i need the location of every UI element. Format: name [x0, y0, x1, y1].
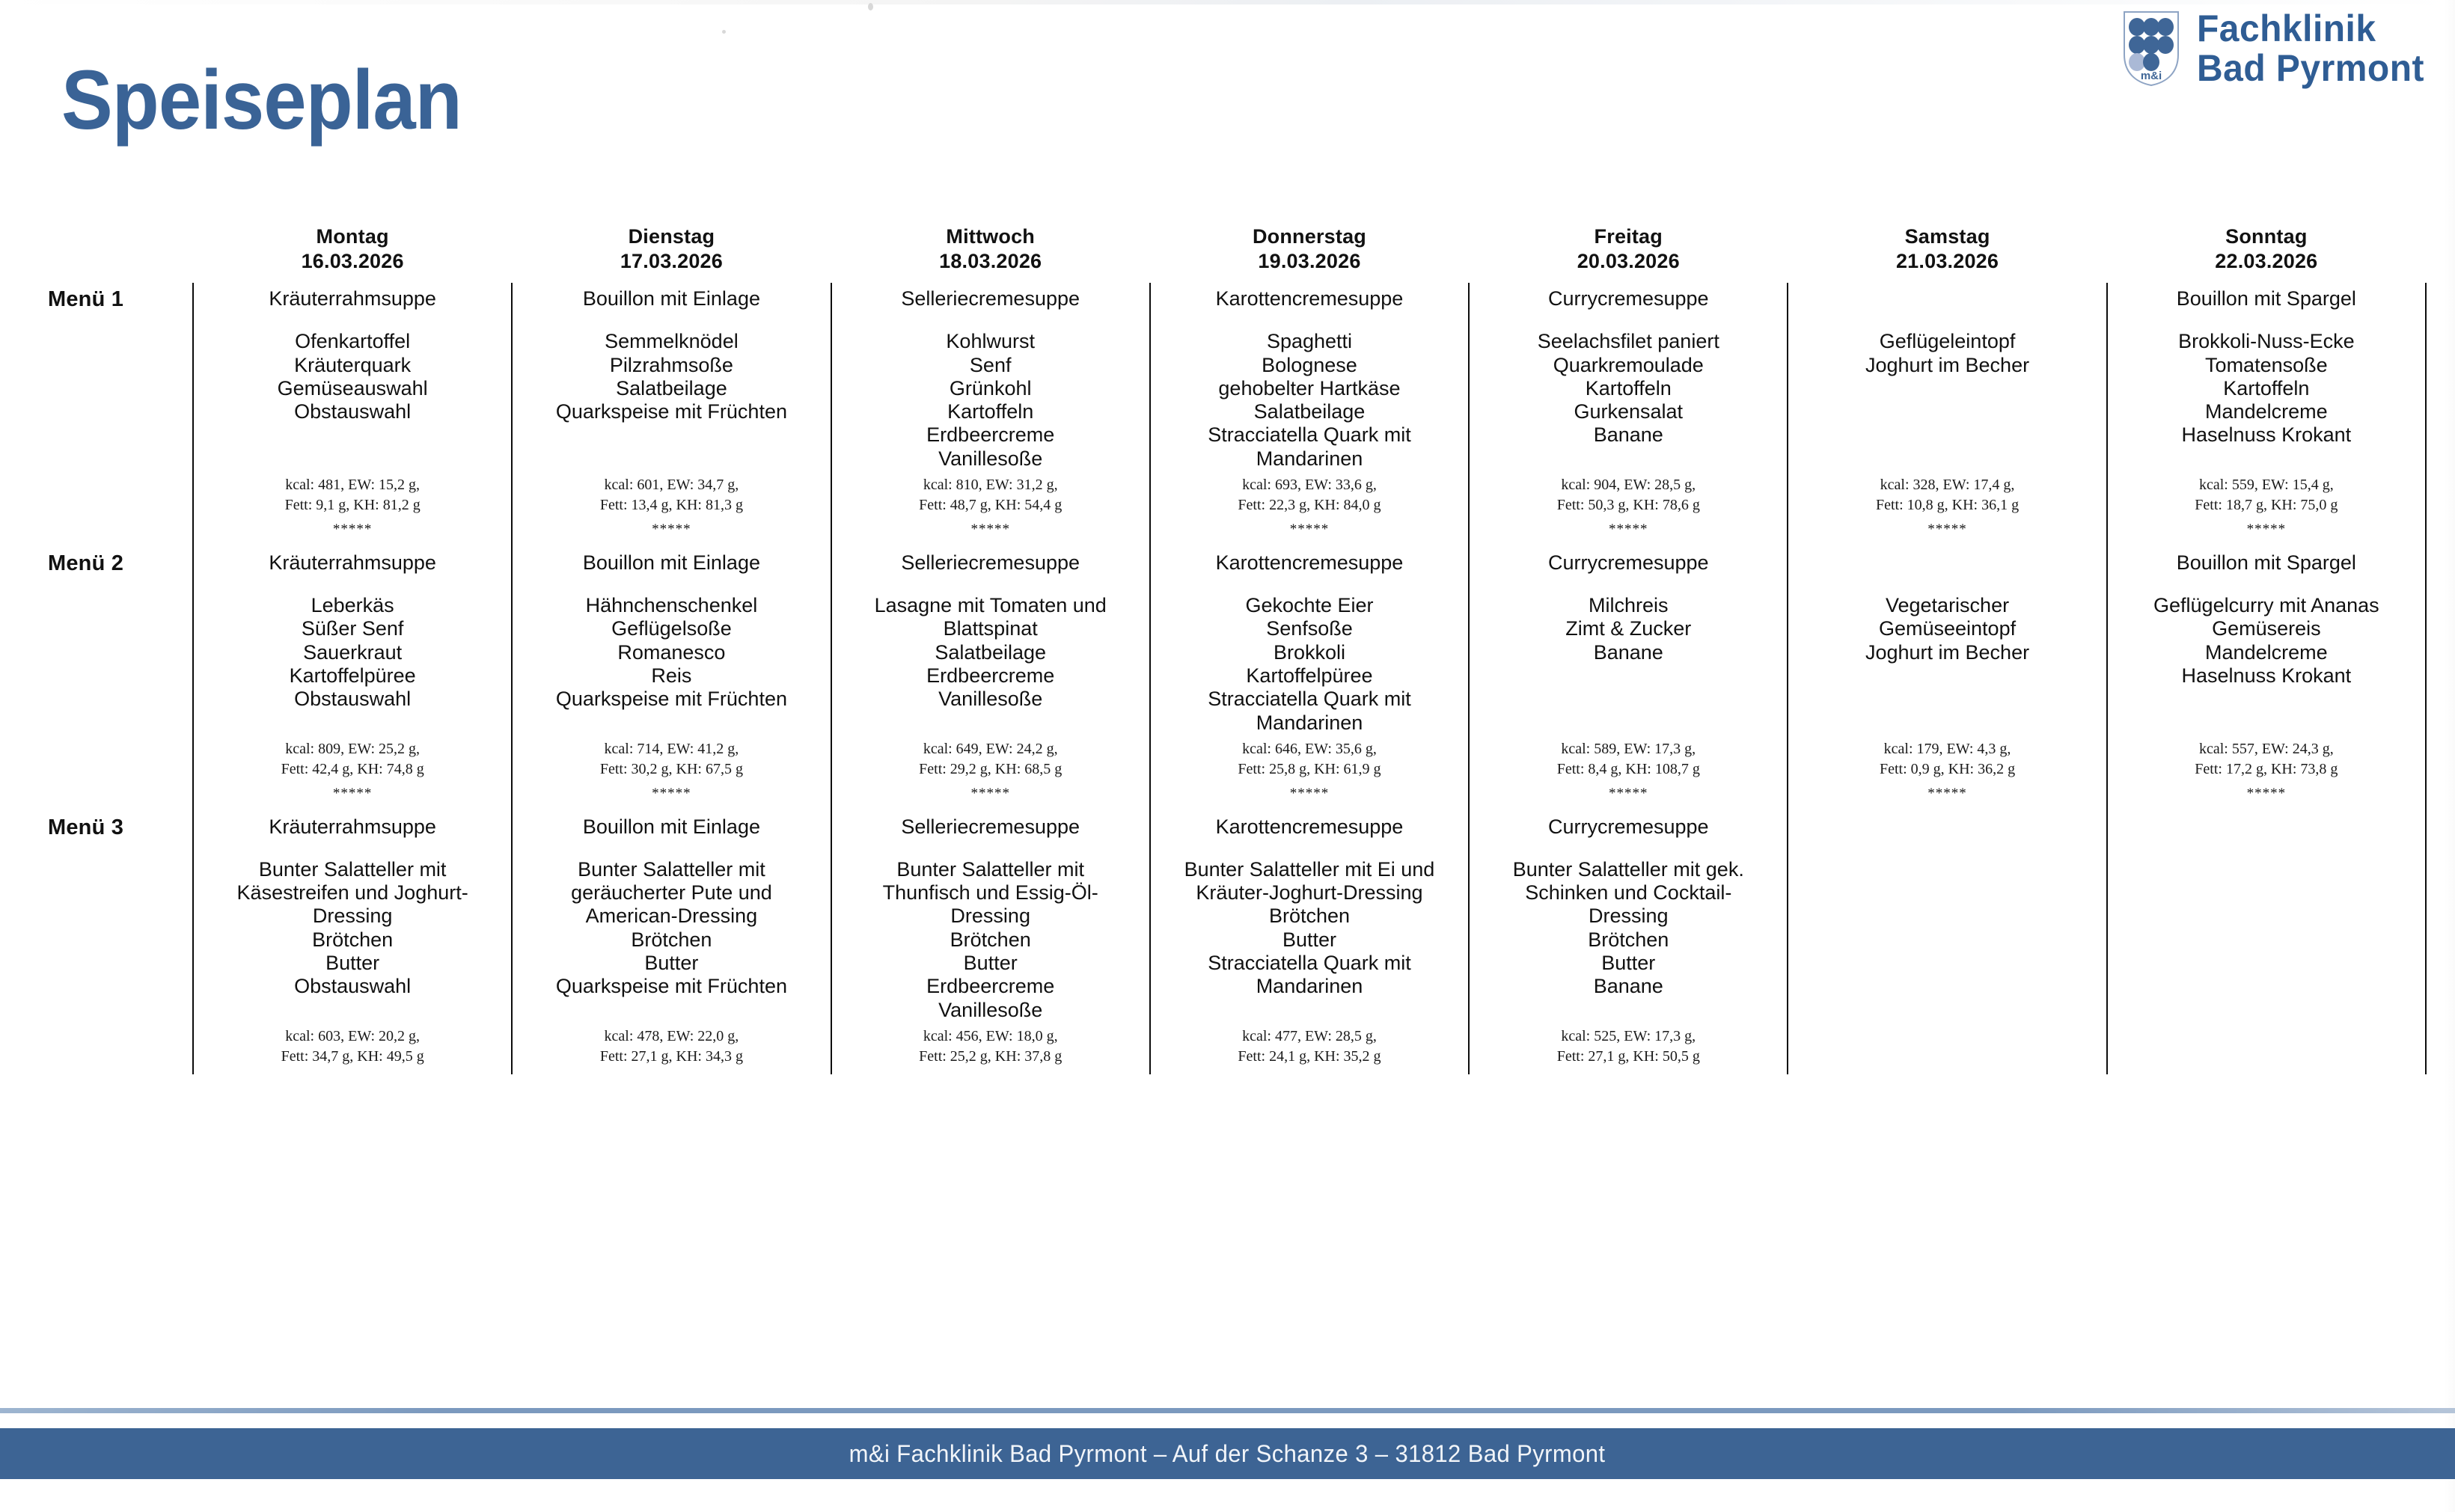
separator-stars: ***** — [2112, 784, 2421, 804]
nutrition-line-1: kcal: 478, EW: 22,0 g, — [517, 1026, 825, 1047]
separator-stars: ***** — [1474, 520, 1782, 539]
nutrition-line-1: kcal: 557, EW: 24,3 g, — [2112, 739, 2421, 759]
nutrition-row-spacer — [43, 471, 193, 547]
brand-logo: m&i Fachklinik Bad Pyrmont — [2122, 9, 2434, 88]
dish-item: American-Dressing — [520, 905, 822, 928]
separator-stars: ***** — [1793, 520, 2101, 539]
dish-list: Geflügelcurry mit AnanasGemüsereisMandel… — [2115, 594, 2418, 688]
dish-item: Süßer Senf — [201, 617, 504, 640]
nutrition-line-2: Fett: 27,1 g, KH: 34,3 g — [517, 1047, 825, 1067]
nutrition-line-1: kcal: 693, EW: 33,6 g, — [1155, 475, 1464, 495]
footer-address: m&i Fachklinik Bad Pyrmont – Auf der Sch… — [849, 1440, 1606, 1468]
nutrition-cell: kcal: 810, EW: 31,2 g,Fett: 48,7 g, KH: … — [831, 471, 1150, 547]
nutrition-cell: kcal: 481, EW: 15,2 g,Fett: 9,1 g, KH: 8… — [193, 471, 512, 547]
dish-item: Vanillesoße — [840, 999, 1142, 1022]
day-date: 16.03.2026 — [196, 249, 509, 274]
dish-item: Erdbeercreme — [840, 975, 1142, 998]
day-name: Samstag — [1791, 224, 2103, 249]
nutrition-line-1: kcal: 601, EW: 34,7 g, — [517, 475, 825, 495]
dish-item: Senfsoße — [1158, 617, 1461, 640]
dish-item: Quarkspeise mit Früchten — [520, 975, 822, 998]
dish-item: Brokkoli-Nuss-Ecke — [2115, 330, 2418, 353]
dish-item: Butter — [840, 952, 1142, 975]
dish-item: Grünkohl — [840, 377, 1142, 400]
day-header-dienstag: Dienstag17.03.2026 — [512, 224, 831, 283]
nutrition-cell: kcal: 456, EW: 18,0 g,Fett: 25,2 g, KH: … — [831, 1022, 1150, 1074]
nutrition-line-1: kcal: 589, EW: 17,3 g, — [1474, 739, 1782, 759]
dish-item: Mandelcreme — [2115, 641, 2418, 664]
soup-item: Selleriecremesuppe — [840, 287, 1142, 310]
menu-label-2: Menü 2 — [43, 547, 193, 735]
nutrition-line-1: kcal: 559, EW: 15,4 g, — [2112, 475, 2421, 495]
day-header-freitag: Freitag20.03.2026 — [1469, 224, 1788, 283]
dish-item: Brötchen — [1477, 928, 1779, 952]
dish-item: Quarkspeise mit Früchten — [520, 400, 822, 423]
nutrition-cell: kcal: 646, EW: 35,6 g,Fett: 25,8 g, KH: … — [1150, 735, 1469, 811]
dish-item: Obstauswahl — [201, 688, 504, 711]
nutrition-cell — [1788, 1022, 2106, 1074]
nutrition-cell: kcal: 557, EW: 24,3 g,Fett: 17,2 g, KH: … — [2107, 735, 2426, 811]
soup-item: Bouillon mit Spargel — [2115, 551, 2418, 575]
dish-item: Vanillesoße — [840, 688, 1142, 711]
menu-row: Menü 2KräuterrahmsuppeLeberkäsSüßer Senf… — [43, 547, 2426, 735]
dish-item: Brötchen — [201, 928, 504, 952]
dish-item: Kräuterquark — [201, 354, 504, 377]
dish-item: Dressing — [201, 905, 504, 928]
dish-item: Butter — [1477, 952, 1779, 975]
nutrition-cell: kcal: 478, EW: 22,0 g,Fett: 27,1 g, KH: … — [512, 1022, 831, 1074]
nutrition-line-2: Fett: 17,2 g, KH: 73,8 g — [2112, 759, 2421, 780]
day-name: Sonntag — [2110, 224, 2423, 249]
soup-item: Bouillon mit Einlage — [520, 551, 822, 575]
shield-icon: m&i — [2122, 10, 2180, 88]
soup-item: Kräuterrahmsuppe — [201, 287, 504, 310]
menu-cell: Bouillon mit EinlageSemmelknödelPilzrahm… — [512, 283, 831, 471]
menu-cell: Bouillon mit EinlageHähnchenschenkelGefl… — [512, 547, 831, 735]
dish-list: Seelachsfilet paniertQuarkremouladeKarto… — [1477, 330, 1779, 447]
day-name: Mittwoch — [834, 224, 1147, 249]
menu-cell: Bouillon mit SpargelGeflügelcurry mit An… — [2107, 547, 2426, 735]
dish-item: Gemüseauswahl — [201, 377, 504, 400]
soup-item: Kräuterrahmsuppe — [201, 551, 504, 575]
day-date: 22.03.2026 — [2110, 249, 2423, 274]
dish-item: gehobelter Hartkäse — [1158, 377, 1461, 400]
menu-label-1: Menü 1 — [43, 283, 193, 471]
footer-rule — [0, 1408, 2455, 1413]
dish-item: Butter — [1158, 928, 1461, 952]
dish-item: Mandelcreme — [2115, 400, 2418, 423]
dish-item: Joghurt im Becher — [1796, 641, 2098, 664]
separator-stars: ***** — [1474, 784, 1782, 804]
footer-bar: m&i Fachklinik Bad Pyrmont – Auf der Sch… — [0, 1428, 2455, 1479]
dish-list: HähnchenschenkelGeflügelsoßeRomanescoRei… — [520, 594, 822, 711]
dish-item: Salatbeilage — [840, 641, 1142, 664]
dish-item: Erdbeercreme — [840, 664, 1142, 688]
nutrition-cell: kcal: 693, EW: 33,6 g,Fett: 22,3 g, KH: … — [1150, 471, 1469, 547]
soup-item: Karottencremesuppe — [1158, 287, 1461, 310]
dish-item: Bunter Salatteller mit — [520, 858, 822, 881]
menu-cell: GeflügeleintopfJoghurt im Becher — [1788, 283, 2106, 471]
dish-list: GeflügeleintopfJoghurt im Becher — [1796, 330, 2098, 377]
nutrition-line-1: kcal: 646, EW: 35,6 g, — [1155, 739, 1464, 759]
nutrition-cell: kcal: 809, EW: 25,2 g,Fett: 42,4 g, KH: … — [193, 735, 512, 811]
nutrition-row: kcal: 603, EW: 20,2 g,Fett: 34,7 g, KH: … — [43, 1022, 2426, 1074]
nutrition-line-1: kcal: 456, EW: 18,0 g, — [837, 1026, 1145, 1047]
dish-item: Salatbeilage — [1158, 400, 1461, 423]
nutrition-line-2: Fett: 10,8 g, KH: 36,1 g — [1793, 495, 2101, 515]
dish-item: Gurkensalat — [1477, 400, 1779, 423]
dish-list: Bunter Salatteller mitKäsestreifen und J… — [201, 858, 504, 999]
menu-row: Menü 3KräuterrahmsuppeBunter Salatteller… — [43, 811, 2426, 1023]
brand-line-1: Fachklinik — [2197, 9, 2424, 49]
nutrition-cell: kcal: 649, EW: 24,2 g,Fett: 29,2 g, KH: … — [831, 735, 1150, 811]
dish-item: Banane — [1477, 423, 1779, 447]
soup-item: Bouillon mit Einlage — [520, 287, 822, 310]
menu-cell: VegetarischerGemüseeintopfJoghurt im Bec… — [1788, 547, 2106, 735]
dish-item: Dressing — [840, 905, 1142, 928]
dish-item: Spaghetti — [1158, 330, 1461, 353]
dish-item: Banane — [1477, 641, 1779, 664]
dish-item: Kartoffeln — [840, 400, 1142, 423]
scan-edge-top — [0, 0, 2455, 4]
dish-item: Kartoffelpüree — [201, 664, 504, 688]
separator-stars: ***** — [517, 520, 825, 539]
day-name: Dienstag — [515, 224, 828, 249]
nutrition-line-2: Fett: 27,1 g, KH: 50,5 g — [1474, 1047, 1782, 1067]
dish-item: Geflügeleintopf — [1796, 330, 2098, 353]
separator-stars: ***** — [837, 784, 1145, 804]
menu-cell — [1788, 811, 2106, 1023]
nutrition-row-spacer — [43, 1022, 193, 1074]
nutrition-cell: kcal: 904, EW: 28,5 g,Fett: 50,3 g, KH: … — [1469, 471, 1788, 547]
menu-cell: KarottencremesuppeSpaghettiBolognesegeho… — [1150, 283, 1469, 471]
dish-item: Quarkspeise mit Früchten — [520, 688, 822, 711]
separator-stars: ***** — [1155, 520, 1464, 539]
day-date: 19.03.2026 — [1153, 249, 1466, 274]
dish-item: Senf — [840, 354, 1142, 377]
dish-item: Haselnuss Krokant — [2115, 664, 2418, 688]
dish-item: Kartoffelpüree — [1158, 664, 1461, 688]
dish-item: geräucherter Pute und — [520, 881, 822, 905]
day-name: Montag — [196, 224, 509, 249]
dish-item: Butter — [201, 952, 504, 975]
nutrition-line-2: Fett: 50,3 g, KH: 78,6 g — [1474, 495, 1782, 515]
day-name: Donnerstag — [1153, 224, 1466, 249]
dish-list: LeberkäsSüßer SenfSauerkrautKartoffelpür… — [201, 594, 504, 711]
dish-item: Stracciatella Quark mit — [1158, 952, 1461, 975]
dish-item: Milchreis — [1477, 594, 1779, 617]
menu-cell: Bouillon mit SpargelBrokkoli-Nuss-EckeTo… — [2107, 283, 2426, 471]
dish-item: Stracciatella Quark mit — [1158, 423, 1461, 447]
dish-item: Ofenkartoffel — [201, 330, 504, 353]
nutrition-cell — [2107, 1022, 2426, 1074]
dish-item: Dressing — [1477, 905, 1779, 928]
dish-item: Sauerkraut — [201, 641, 504, 664]
nutrition-line-2: Fett: 29,2 g, KH: 68,5 g — [837, 759, 1145, 780]
nutrition-line-2: Fett: 0,9 g, KH: 36,2 g — [1793, 759, 2101, 780]
soup-item: Selleriecremesuppe — [840, 551, 1142, 575]
separator-stars: ***** — [2112, 520, 2421, 539]
dish-item: Tomatensoße — [2115, 354, 2418, 377]
dish-item: Kartoffeln — [1477, 377, 1779, 400]
table-corner — [43, 224, 193, 283]
soup-item: Currycremesuppe — [1477, 551, 1779, 575]
soup-item-empty — [1796, 287, 2098, 310]
nutrition-line-2: Fett: 24,1 g, KH: 35,2 g — [1155, 1047, 1464, 1067]
nutrition-cell: kcal: 477, EW: 28,5 g,Fett: 24,1 g, KH: … — [1150, 1022, 1469, 1074]
dish-list: SpaghettiBolognesegehobelter HartkäseSal… — [1158, 330, 1461, 471]
brand-name: Fachklinik Bad Pyrmont — [2197, 9, 2424, 88]
day-name: Freitag — [1472, 224, 1785, 249]
dish-item: Blattspinat — [840, 617, 1142, 640]
nutrition-line-2: Fett: 8,4 g, KH: 108,7 g — [1474, 759, 1782, 780]
soup-item: Bouillon mit Spargel — [2115, 287, 2418, 310]
menu-cell: CurrycremesuppeSeelachsfilet paniertQuar… — [1469, 283, 1788, 471]
nutrition-line-1: kcal: 603, EW: 20,2 g, — [198, 1026, 507, 1047]
nutrition-line-2: Fett: 9,1 g, KH: 81,2 g — [198, 495, 507, 515]
dish-list: MilchreisZimt & ZuckerBanane — [1477, 594, 1779, 664]
day-date: 17.03.2026 — [515, 249, 828, 274]
dish-item: Geflügelcurry mit Ananas — [2115, 594, 2418, 617]
dish-item: Stracciatella Quark mit — [1158, 688, 1461, 711]
dish-item: Butter — [520, 952, 822, 975]
nutrition-cell: kcal: 525, EW: 17,3 g,Fett: 27,1 g, KH: … — [1469, 1022, 1788, 1074]
dish-item: Gemüseeintopf — [1796, 617, 2098, 640]
soup-item: Karottencremesuppe — [1158, 815, 1461, 839]
dish-item: Schinken und Cocktail- — [1477, 881, 1779, 905]
dish-list: Bunter Salatteller mit Ei undKräuter-Jog… — [1158, 858, 1461, 999]
dish-list: OfenkartoffelKräuterquarkGemüseauswahlOb… — [201, 330, 504, 423]
dish-item: Leberkäs — [201, 594, 504, 617]
dish-item: Brötchen — [520, 928, 822, 952]
dish-item: Thunfisch und Essig-Öl- — [840, 881, 1142, 905]
dish-item: Bunter Salatteller mit — [840, 858, 1142, 881]
dish-item: Brötchen — [840, 928, 1142, 952]
dish-list: Bunter Salatteller mitThunfisch und Essi… — [840, 858, 1142, 1022]
nutrition-line-1: kcal: 714, EW: 41,2 g, — [517, 739, 825, 759]
dish-item: Obstauswahl — [201, 975, 504, 998]
dish-item: Mandarinen — [1158, 447, 1461, 471]
dish-item: Seelachsfilet paniert — [1477, 330, 1779, 353]
dish-item: Reis — [520, 664, 822, 688]
dish-item: Banane — [1477, 975, 1779, 998]
menu-cell: KarottencremesuppeGekochte EierSenfsoßeB… — [1150, 547, 1469, 735]
nutrition-cell: kcal: 328, EW: 17,4 g,Fett: 10,8 g, KH: … — [1788, 471, 2106, 547]
dish-list: SemmelknödelPilzrahmsoßeSalatbeilageQuar… — [520, 330, 822, 423]
nutrition-line-2: Fett: 30,2 g, KH: 67,5 g — [517, 759, 825, 780]
menu-cell: KarottencremesuppeBunter Salatteller mit… — [1150, 811, 1469, 1023]
dish-item: Bunter Salatteller mit gek. — [1477, 858, 1779, 881]
day-date: 18.03.2026 — [834, 249, 1147, 274]
menu-cell: KräuterrahmsuppeLeberkäsSüßer SenfSauerk… — [193, 547, 512, 735]
soup-item: Selleriecremesuppe — [840, 815, 1142, 839]
menu-cell: SelleriecremesuppeKohlwurstSenfGrünkohlK… — [831, 283, 1150, 471]
nutrition-line-1: kcal: 904, EW: 28,5 g, — [1474, 475, 1782, 495]
dish-item: Vegetarischer — [1796, 594, 2098, 617]
scan-edge-right — [2445, 0, 2455, 1512]
nutrition-cell: kcal: 714, EW: 41,2 g,Fett: 30,2 g, KH: … — [512, 735, 831, 811]
dish-item: Joghurt im Becher — [1796, 354, 2098, 377]
day-header-montag: Montag16.03.2026 — [193, 224, 512, 283]
dish-item: Brötchen — [1158, 905, 1461, 928]
nutrition-line-2: Fett: 25,8 g, KH: 61,9 g — [1155, 759, 1464, 780]
dish-item: Gekochte Eier — [1158, 594, 1461, 617]
dish-item: Käsestreifen und Joghurt- — [201, 881, 504, 905]
nutrition-row: kcal: 809, EW: 25,2 g,Fett: 42,4 g, KH: … — [43, 735, 2426, 811]
soup-item: Currycremesuppe — [1477, 287, 1779, 310]
dish-list: Gekochte EierSenfsoßeBrokkoliKartoffelpü… — [1158, 594, 1461, 735]
nutrition-cell: kcal: 179, EW: 4,3 g,Fett: 0,9 g, KH: 36… — [1788, 735, 2106, 811]
separator-stars: ***** — [1793, 784, 2101, 804]
dish-list: Lasagne mit Tomaten undBlattspinatSalatb… — [840, 594, 1142, 711]
dish-item: Semmelknödel — [520, 330, 822, 353]
nutrition-line-1: kcal: 809, EW: 25,2 g, — [198, 739, 507, 759]
dish-item: Brokkoli — [1158, 641, 1461, 664]
menu-cell: KräuterrahmsuppeBunter Salatteller mitKä… — [193, 811, 512, 1023]
dish-item: Vanillesoße — [840, 447, 1142, 471]
menu-plan-table: Montag16.03.2026Dienstag17.03.2026Mittwo… — [43, 224, 2427, 1074]
soup-item: Currycremesuppe — [1477, 815, 1779, 839]
dish-item: Kräuter-Joghurt-Dressing — [1158, 881, 1461, 905]
nutrition-line-2: Fett: 48,7 g, KH: 54,4 g — [837, 495, 1145, 515]
menu-cell: SelleriecremesuppeBunter Salatteller mit… — [831, 811, 1150, 1023]
separator-stars: ***** — [837, 520, 1145, 539]
nutrition-line-2: Fett: 25,2 g, KH: 37,8 g — [837, 1047, 1145, 1067]
dish-item: Erdbeercreme — [840, 423, 1142, 447]
dish-item: Gemüsereis — [2115, 617, 2418, 640]
dish-item: Romanesco — [520, 641, 822, 664]
brand-line-2: Bad Pyrmont — [2197, 49, 2424, 88]
separator-stars: ***** — [198, 520, 507, 539]
menu-row: Menü 1KräuterrahmsuppeOfenkartoffelKräut… — [43, 283, 2426, 471]
dish-list: Bunter Salatteller mitgeräucherter Pute … — [520, 858, 822, 999]
menu-cell: CurrycremesuppeMilchreisZimt & ZuckerBan… — [1469, 547, 1788, 735]
dish-list: VegetarischerGemüseeintopfJoghurt im Bec… — [1796, 594, 2098, 664]
separator-stars: ***** — [517, 784, 825, 804]
nutrition-line-1: kcal: 179, EW: 4,3 g, — [1793, 739, 2101, 759]
nutrition-row-spacer — [43, 735, 193, 811]
menu-cell — [2107, 811, 2426, 1023]
menu-cell: KräuterrahmsuppeOfenkartoffelKräuterquar… — [193, 283, 512, 471]
dish-item: Kohlwurst — [840, 330, 1142, 353]
nutrition-line-2: Fett: 18,7 g, KH: 75,0 g — [2112, 495, 2421, 515]
nutrition-cell: kcal: 589, EW: 17,3 g,Fett: 8,4 g, KH: 1… — [1469, 735, 1788, 811]
dish-item: Geflügelsoße — [520, 617, 822, 640]
nutrition-line-1: kcal: 481, EW: 15,2 g, — [198, 475, 507, 495]
dish-item: Mandarinen — [1158, 975, 1461, 998]
nutrition-line-2: Fett: 34,7 g, KH: 49,5 g — [198, 1047, 507, 1067]
scan-speck — [868, 3, 873, 10]
dish-item: Kartoffeln — [2115, 377, 2418, 400]
day-header-row: Montag16.03.2026Dienstag17.03.2026Mittwo… — [43, 224, 2426, 283]
day-header-mittwoch: Mittwoch18.03.2026 — [831, 224, 1150, 283]
dish-item: Obstauswahl — [201, 400, 504, 423]
dish-list: Bunter Salatteller mit gek.Schinken und … — [1477, 858, 1779, 999]
shield-label-text: m&i — [2141, 70, 2162, 82]
dish-item: Hähnchenschenkel — [520, 594, 822, 617]
day-header-samstag: Samstag21.03.2026 — [1788, 224, 2106, 283]
nutrition-line-1: kcal: 525, EW: 17,3 g, — [1474, 1026, 1782, 1047]
soup-item-empty — [1796, 551, 2098, 575]
dish-item: Mandarinen — [1158, 711, 1461, 735]
dish-item: Bunter Salatteller mit — [201, 858, 504, 881]
nutrition-cell: kcal: 559, EW: 15,4 g,Fett: 18,7 g, KH: … — [2107, 471, 2426, 547]
menu-label-3: Menü 3 — [43, 811, 193, 1023]
separator-stars: ***** — [1155, 784, 1464, 804]
dish-list: KohlwurstSenfGrünkohlKartoffelnErdbeercr… — [840, 330, 1142, 471]
dish-item: Zimt & Zucker — [1477, 617, 1779, 640]
nutrition-cell: kcal: 603, EW: 20,2 g,Fett: 34,7 g, KH: … — [193, 1022, 512, 1074]
day-date: 20.03.2026 — [1472, 249, 1785, 274]
menu-cell: CurrycremesuppeBunter Salatteller mit ge… — [1469, 811, 1788, 1023]
nutrition-cell: kcal: 601, EW: 34,7 g,Fett: 13,4 g, KH: … — [512, 471, 831, 547]
nutrition-line-1: kcal: 477, EW: 28,5 g, — [1155, 1026, 1464, 1047]
soup-item: Karottencremesuppe — [1158, 551, 1461, 575]
dish-item: Bolognese — [1158, 354, 1461, 377]
page-title: Speiseplan — [61, 58, 462, 142]
nutrition-line-2: Fett: 22,3 g, KH: 84,0 g — [1155, 495, 1464, 515]
nutrition-line-2: Fett: 13,4 g, KH: 81,3 g — [517, 495, 825, 515]
dish-item: Haselnuss Krokant — [2115, 423, 2418, 447]
day-header-donnerstag: Donnerstag19.03.2026 — [1150, 224, 1469, 283]
soup-item: Bouillon mit Einlage — [520, 815, 822, 839]
nutrition-row: kcal: 481, EW: 15,2 g,Fett: 9,1 g, KH: 8… — [43, 471, 2426, 547]
dish-item: Quarkremoulade — [1477, 354, 1779, 377]
nutrition-line-1: kcal: 810, EW: 31,2 g, — [837, 475, 1145, 495]
dish-list: Brokkoli-Nuss-EckeTomatensoßeKartoffelnM… — [2115, 330, 2418, 447]
menu-cell: Bouillon mit EinlageBunter Salatteller m… — [512, 811, 831, 1023]
separator-stars: ***** — [198, 784, 507, 804]
day-header-sonntag: Sonntag22.03.2026 — [2107, 224, 2426, 283]
nutrition-line-1: kcal: 328, EW: 17,4 g, — [1793, 475, 2101, 495]
nutrition-line-2: Fett: 42,4 g, KH: 74,8 g — [198, 759, 507, 780]
dish-item: Bunter Salatteller mit Ei und — [1158, 858, 1461, 881]
dish-item: Pilzrahmsoße — [520, 354, 822, 377]
soup-item: Kräuterrahmsuppe — [201, 815, 504, 839]
day-date: 21.03.2026 — [1791, 249, 2103, 274]
dish-item: Lasagne mit Tomaten und — [840, 594, 1142, 617]
menu-cell: SelleriecremesuppeLasagne mit Tomaten un… — [831, 547, 1150, 735]
dish-item: Salatbeilage — [520, 377, 822, 400]
nutrition-line-1: kcal: 649, EW: 24,2 g, — [837, 739, 1145, 759]
scan-speck — [722, 30, 726, 34]
